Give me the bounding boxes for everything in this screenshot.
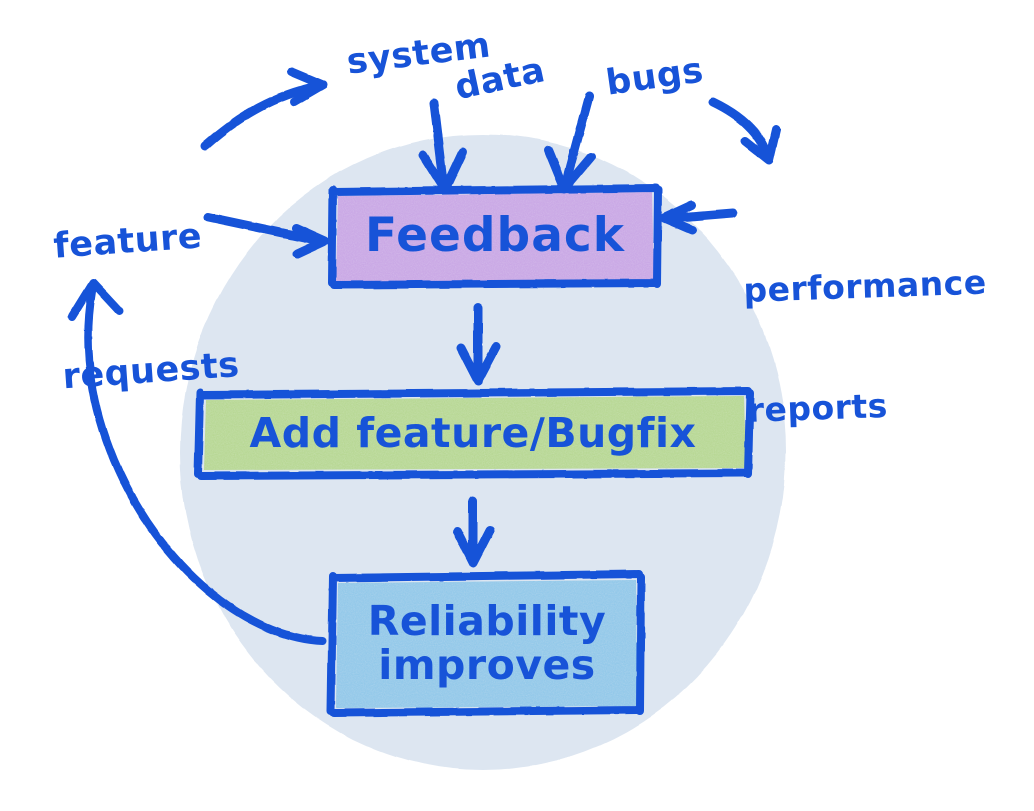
arrow-performance-to-feedback <box>664 205 733 230</box>
annotation-performance-reports-line2: reports <box>747 383 991 432</box>
diagram-canvas: Feedback Add feature/Bugfix Reliability … <box>0 0 1034 811</box>
node-feedback-shape <box>336 192 654 282</box>
node-reliability-shape <box>336 580 637 708</box>
annotation-performance-reports-line1: performance <box>743 262 987 311</box>
node-addfeature-shape <box>204 396 746 470</box>
annotation-feature-requests-line1: feature <box>52 213 232 269</box>
arrow-bugs-to-performance <box>713 102 776 160</box>
annotation-feature-requests: feature requests <box>46 126 247 488</box>
annotation-feature-requests-line2: requests <box>61 344 241 400</box>
annotation-performance-reports: performance reports <box>740 182 994 512</box>
